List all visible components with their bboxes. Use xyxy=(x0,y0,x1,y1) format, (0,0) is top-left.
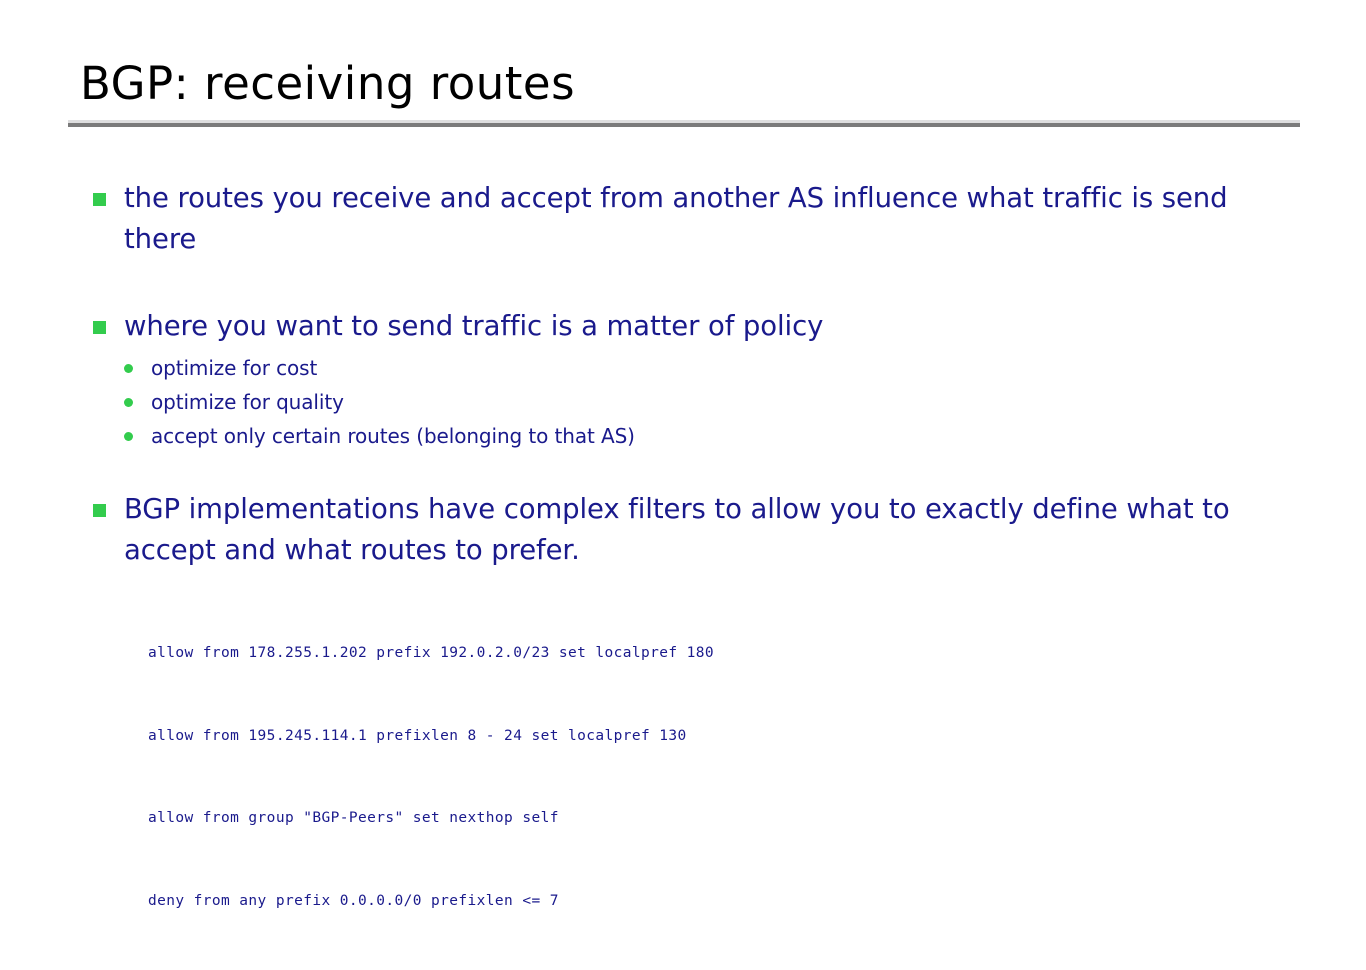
bullet-item-1: the routes you receive and accept from a… xyxy=(92,178,1302,260)
code-line-4: deny from any prefix 0.0.0.0/0 prefixlen… xyxy=(148,888,1302,916)
code-block: allow from 178.255.1.202 prefix 192.0.2.… xyxy=(148,585,1302,970)
code-line-2: allow from 195.245.114.1 prefixlen 8 - 2… xyxy=(148,723,1302,751)
dot-bullet-icon xyxy=(124,398,133,407)
sub-bullet-item-3-label: accept only certain routes (belonging to… xyxy=(151,424,635,448)
sub-bullet-item-2-label: optimize for quality xyxy=(151,390,344,414)
slide-body: the routes you receive and accept from a… xyxy=(92,178,1302,970)
spacer xyxy=(92,453,1302,489)
bullet-item-3-label: BGP implementations have complex filters… xyxy=(124,493,1230,566)
sub-bullet-item-1-label: optimize for cost xyxy=(151,356,317,380)
sub-bullet-item-3: accept only certain routes (belonging to… xyxy=(119,419,1302,453)
code-line-3: allow from group "BGP-Peers" set nexthop… xyxy=(148,805,1302,833)
sub-bullet-item-1: optimize for cost xyxy=(119,351,1302,385)
bullet-item-1-label: the routes you receive and accept from a… xyxy=(124,182,1228,255)
sub-bullet-item-2: optimize for quality xyxy=(119,385,1302,419)
bullet-item-2: where you want to send traffic is a matt… xyxy=(92,306,1302,347)
bullet-item-2-label: where you want to send traffic is a matt… xyxy=(124,310,823,342)
square-bullet-icon xyxy=(93,193,106,206)
slide: BGP: receiving routes the routes you rec… xyxy=(0,0,1366,768)
spacer xyxy=(92,260,1302,306)
divider-shadow xyxy=(68,123,1300,127)
square-bullet-icon xyxy=(93,504,106,517)
sub-bullet-list: optimize for cost optimize for quality a… xyxy=(92,351,1302,453)
dot-bullet-icon xyxy=(124,364,133,373)
title-divider xyxy=(68,120,1300,127)
bullet-item-3: BGP implementations have complex filters… xyxy=(92,489,1302,571)
code-line-1: allow from 178.255.1.202 prefix 192.0.2.… xyxy=(148,640,1302,668)
dot-bullet-icon xyxy=(124,432,133,441)
square-bullet-icon xyxy=(93,321,106,334)
page-title: BGP: receiving routes xyxy=(80,58,575,110)
